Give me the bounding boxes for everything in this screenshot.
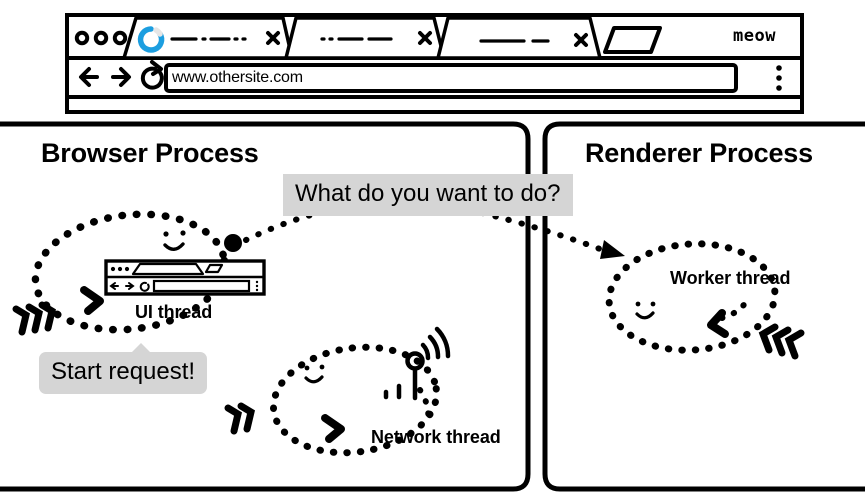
- ui-thread-face: [163, 230, 185, 249]
- ipc-arrowhead: [600, 240, 625, 259]
- address-bar-text: www.othersite.com: [172, 69, 303, 87]
- worker-thread-hand-marks: [763, 327, 801, 356]
- browser-window: [67, 15, 802, 112]
- question-callout: What do you want to do?: [283, 174, 573, 216]
- worker-thread-body: [606, 238, 779, 355]
- worker-thread-label: Worker thread: [670, 268, 790, 289]
- network-thread-face: [305, 365, 325, 382]
- start-request-callout: Start request!: [39, 352, 207, 394]
- tab-1[interactable]: [124, 18, 292, 58]
- window-control-dot[interactable]: [115, 33, 125, 43]
- window-controls[interactable]: [77, 33, 125, 43]
- network-thread-label: Network thread: [371, 427, 501, 448]
- renderer-process-title: Renderer Process: [585, 138, 813, 169]
- new-tab-button[interactable]: [605, 28, 660, 52]
- worker-thread-figure: [606, 238, 801, 356]
- window-control-dot[interactable]: [96, 33, 106, 43]
- ui-thread-hand-marks: [16, 305, 52, 332]
- ui-thread-label: UI thread: [135, 302, 212, 323]
- tab-3[interactable]: [438, 18, 600, 58]
- ui-thread-browser-window-icon: [106, 261, 264, 294]
- tab-2-shape[interactable]: [286, 18, 444, 58]
- network-thread-hand-marks: [228, 406, 251, 431]
- window-control-dot[interactable]: [77, 33, 87, 43]
- tab-3-shape[interactable]: [438, 18, 600, 58]
- tab-2[interactable]: [286, 18, 444, 58]
- browser-process-title: Browser Process: [41, 138, 259, 169]
- worker-thread-face: [636, 302, 656, 318]
- network-antenna-link: [420, 390, 428, 422]
- network-thread-arm-chevron: [325, 418, 341, 439]
- ui-thread-arm-chevron: [84, 290, 100, 311]
- kebab-menu-icon[interactable]: [776, 65, 782, 91]
- browser-brand-label: meow: [733, 26, 776, 46]
- worker-thread-inner-dots: [722, 298, 748, 318]
- question-callout-text: What do you want to do?: [295, 180, 561, 207]
- diagram-canvas: Browser Process Renderer Process What do…: [0, 0, 865, 504]
- start-request-callout-text: Start request!: [51, 358, 195, 385]
- renderer-process-panel: [545, 124, 865, 489]
- callout-tail-icon: [131, 343, 151, 353]
- ipc-origin-dot: [224, 234, 242, 252]
